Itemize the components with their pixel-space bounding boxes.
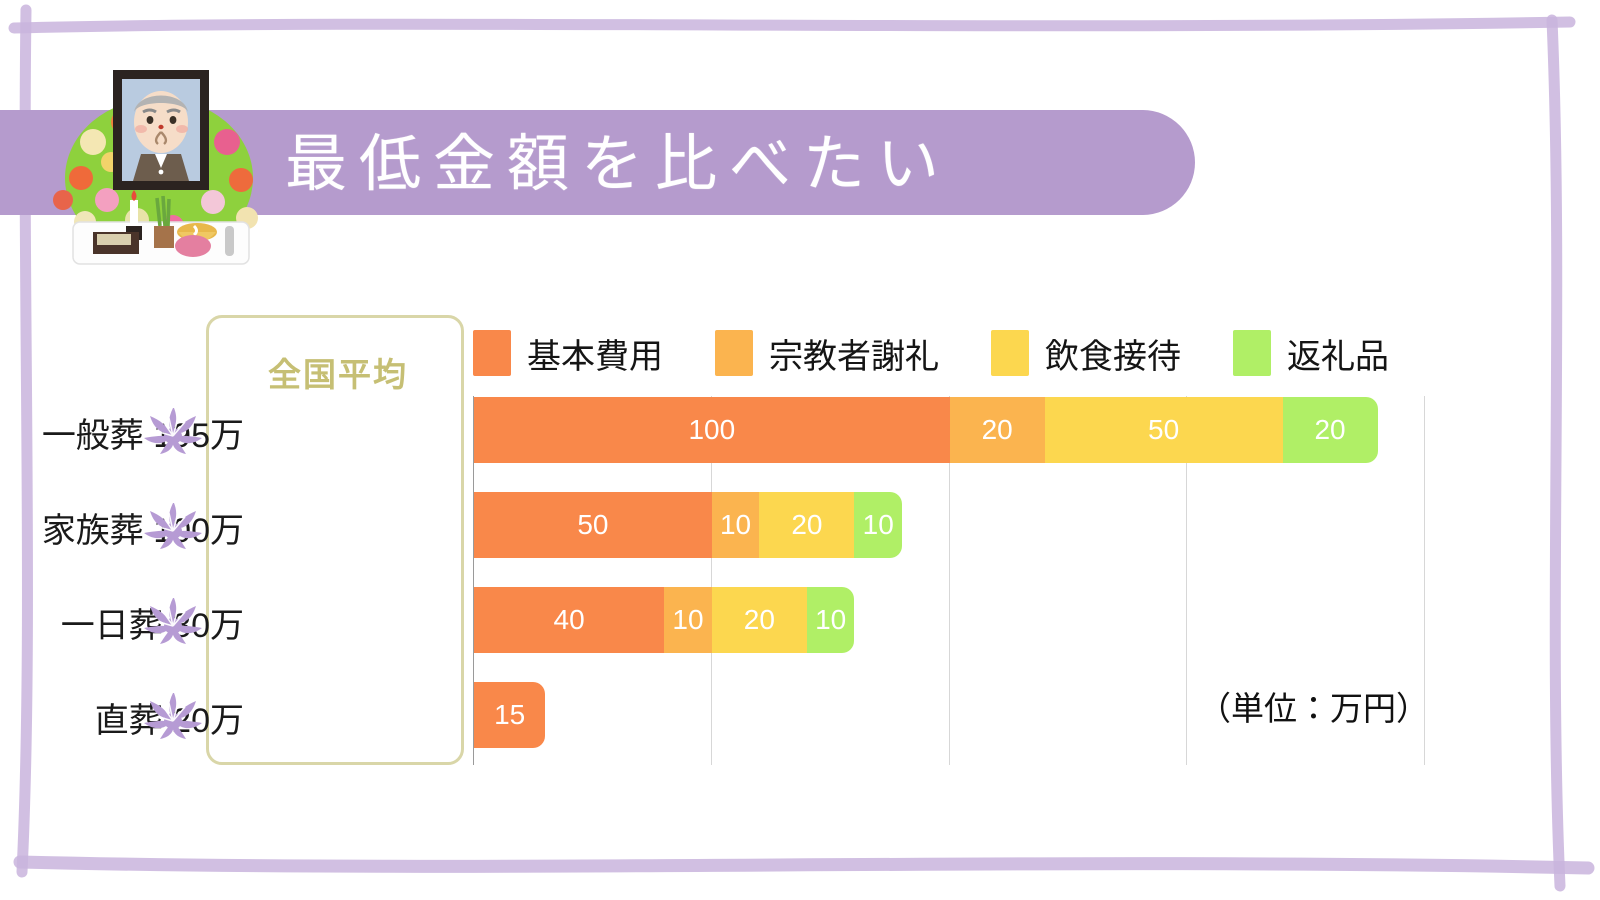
legend-label: 飲食接待 [1045,329,1181,378]
legend-swatch-icon [1233,330,1271,376]
funeral-altar-icon [45,50,275,265]
bar-segment: 50 [1045,397,1283,463]
bar-row: 50102010 [474,492,902,558]
bar-value-label: 50 [577,509,608,541]
lily-flower-icon [138,497,208,553]
bar-segment: 100 [474,397,950,463]
legend-label: 基本費用 [527,329,663,378]
bar-value-label: 20 [982,414,1013,446]
bar-value-label: 10 [815,604,846,636]
bar-segment: 15 [474,682,545,748]
bar-value-label: 20 [791,509,822,541]
bar-segment: 20 [759,492,854,558]
bar-value-label: 10 [672,604,703,636]
bar-row: 100205020 [474,397,1378,463]
header: 最低金額を比べたい [0,0,1600,290]
bar-value-label: 10 [720,509,751,541]
legend-item-1: 基本費用 [473,329,663,378]
unit-note: （単位：万円） [1198,682,1429,730]
legend-item-3: 飲食接待 [991,329,1181,378]
lily-flower-icon [138,687,208,743]
chart-area: 全国平均 一般葬 195万家族葬 100万一日葬 80万直葬 20万 基本費用宗… [0,300,1600,800]
lily-flower-icon [138,592,208,648]
panel-heading: 全国平均 [209,348,467,396]
page-title: 最低金額を比べたい [285,118,951,210]
bar-value-label: 50 [1148,414,1179,446]
bar-value-label: 10 [863,509,894,541]
bar-segment: 20 [950,397,1045,463]
lily-flower-icon [138,497,208,553]
bar-value-label: 15 [494,699,525,731]
legend-label: 返礼品 [1287,329,1389,378]
bar-segment: 10 [712,492,760,558]
lily-flower-icon [138,402,208,458]
chart-legend: 基本費用宗教者謝礼飲食接待返礼品 [473,328,1441,378]
legend-swatch-icon [715,330,753,376]
legend-swatch-icon [473,330,511,376]
legend-item-4: 返礼品 [1233,329,1389,378]
bar-value-label: 20 [744,604,775,636]
bar-segment: 50 [474,492,712,558]
bar-segment: 20 [712,587,807,653]
average-label-panel: 全国平均 [206,315,464,765]
bar-segment: 10 [807,587,855,653]
legend-item-2: 宗教者謝礼 [715,329,939,378]
lily-flower-icon [138,687,208,743]
bar-segment: 10 [854,492,902,558]
bar-segment: 20 [1283,397,1378,463]
bar-segment: 40 [474,587,664,653]
legend-swatch-icon [991,330,1029,376]
stacked-bar-plot: 基本費用宗教者謝礼飲食接待返礼品 10020502050102010401020… [473,300,1448,765]
lily-flower-icon [138,592,208,648]
bar-segment: 10 [664,587,712,653]
lily-flower-icon [138,402,208,458]
legend-label: 宗教者謝礼 [769,329,939,378]
bar-row: 40102010 [474,587,854,653]
bar-value-label: 40 [554,604,585,636]
bar-value-label: 100 [688,414,735,446]
bar-row: 15 [474,682,545,748]
bar-value-label: 20 [1314,414,1345,446]
